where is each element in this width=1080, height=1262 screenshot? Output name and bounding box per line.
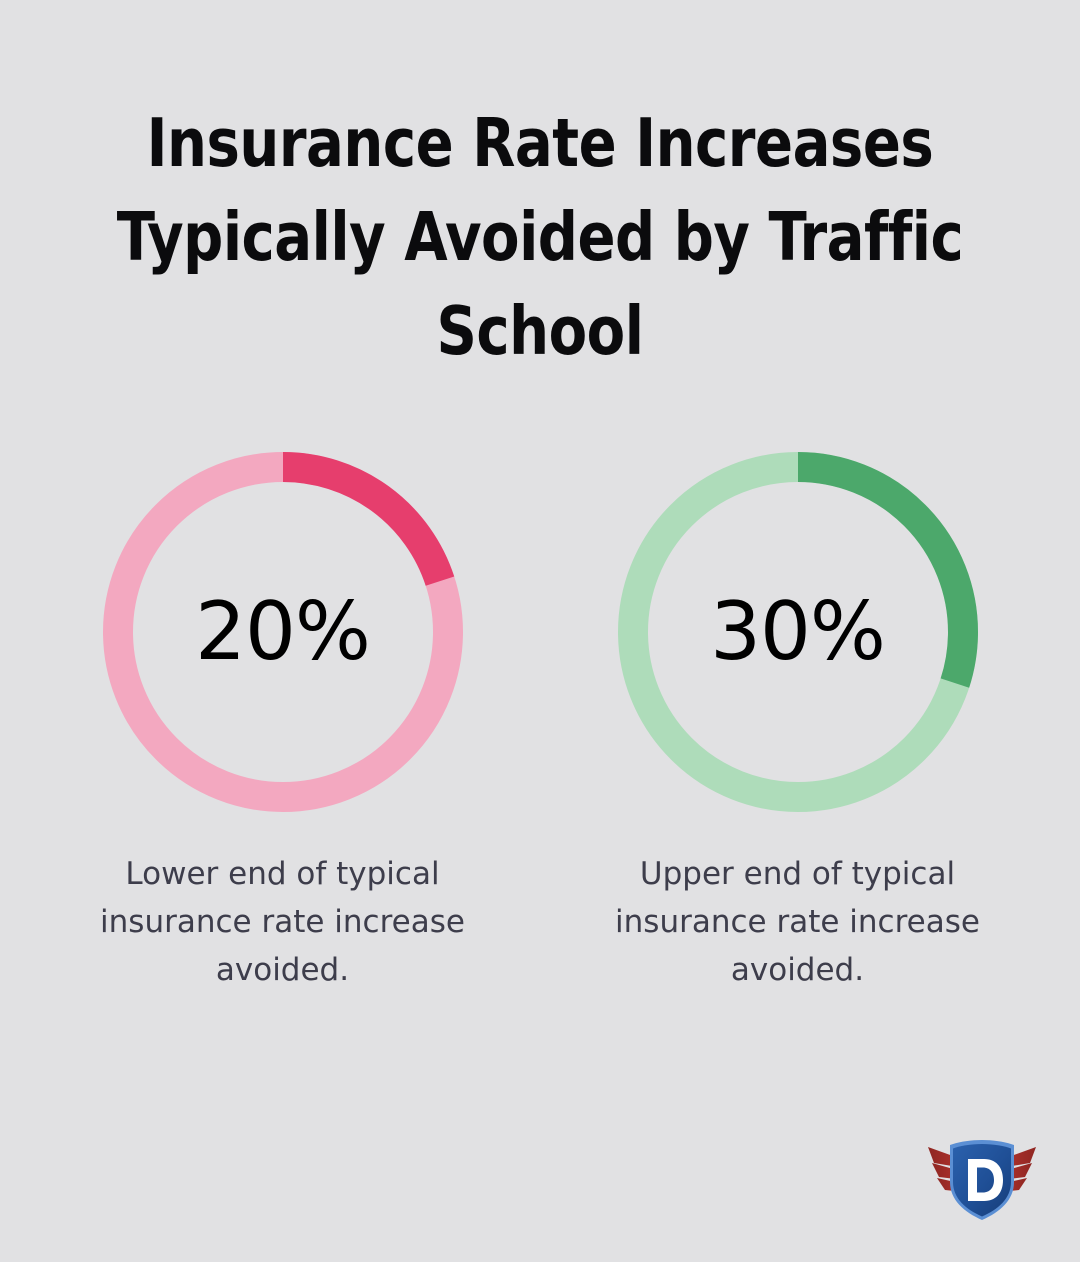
donut-value-label-right: 30% [618, 452, 978, 812]
caption-line-1: Lower end of typical [125, 856, 439, 892]
donut-value-label-left: 20% [103, 452, 463, 812]
infographic-canvas: Insurance Rate Increases Typically Avoid… [0, 0, 1080, 1262]
brand-logo [920, 1132, 1044, 1224]
chart-caption-upper-end: Upper end of typical insurance rate incr… [583, 850, 1013, 994]
page-title-line-2: Typically Avoided by Traffic [71, 190, 1008, 284]
page-title-line-1: Insurance Rate Increases [71, 96, 1008, 190]
shield-wings-icon [920, 1132, 1044, 1224]
page-title-line-3: School [71, 284, 1008, 378]
donut-chart-30-percent: 30% [618, 452, 978, 812]
caption-line-2: insurance rate increase [615, 904, 980, 940]
chart-cell-lower-end: 20% Lower end of typical insurance rate … [25, 452, 540, 994]
page-title: Insurance Rate Increases Typically Avoid… [0, 96, 1080, 378]
caption-line-3: avoided. [216, 952, 349, 988]
donut-chart-20-percent: 20% [103, 452, 463, 812]
donut-charts-row: 20% Lower end of typical insurance rate … [0, 452, 1080, 994]
caption-line-3: avoided. [731, 952, 864, 988]
caption-line-2: insurance rate increase [100, 904, 465, 940]
chart-cell-upper-end: 30% Upper end of typical insurance rate … [540, 452, 1055, 994]
caption-line-1: Upper end of typical [640, 856, 955, 892]
chart-caption-lower-end: Lower end of typical insurance rate incr… [68, 850, 498, 994]
